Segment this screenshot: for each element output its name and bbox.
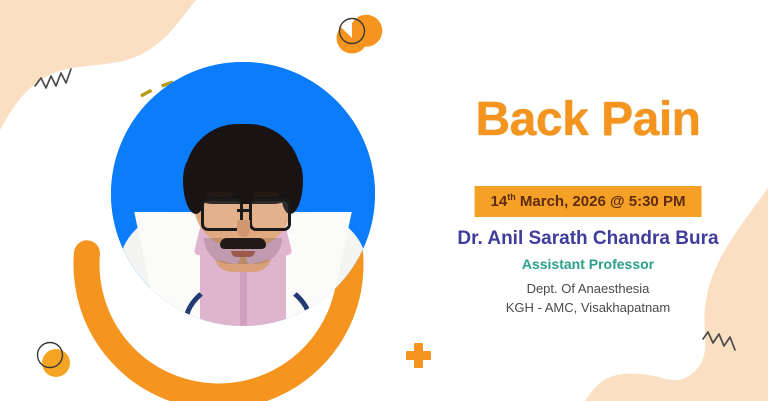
date-time-badge: 14th March, 2026 @ 5:30 PM <box>475 186 702 217</box>
speaker-affiliation: Dept. Of Anaesthesia KGH - AMC, Visakhap… <box>408 280 768 318</box>
text-column: Back Pain 14th March, 2026 @ 5:30 PM Dr.… <box>408 0 768 401</box>
eyeglass-lens-right <box>249 198 291 231</box>
badge-ordinal: th <box>507 192 516 202</box>
affiliation-line-2: KGH - AMC, Visakhapatnam <box>408 299 768 318</box>
badge-rest: March, 2026 @ 5:30 PM <box>516 193 686 210</box>
poster-canvas: Back Pain 14th March, 2026 @ 5:30 PM Dr.… <box>0 0 768 401</box>
affiliation-line-1: Dept. Of Anaesthesia <box>408 280 768 299</box>
badge-day: 14 <box>491 193 508 210</box>
nose <box>237 220 250 237</box>
mouth <box>231 251 255 257</box>
eyeglass-bridge <box>237 209 249 212</box>
speaker-role: Assistant Professor <box>408 256 768 272</box>
event-title: Back Pain <box>408 96 768 144</box>
portrait-cluster <box>38 36 408 401</box>
moustache <box>220 238 266 249</box>
speaker-name: Dr. Anil Sarath Chandra Bura <box>408 228 768 250</box>
eyebrow-left <box>207 192 233 197</box>
eyebrow-right <box>253 192 279 197</box>
speaker-photo <box>111 62 375 326</box>
